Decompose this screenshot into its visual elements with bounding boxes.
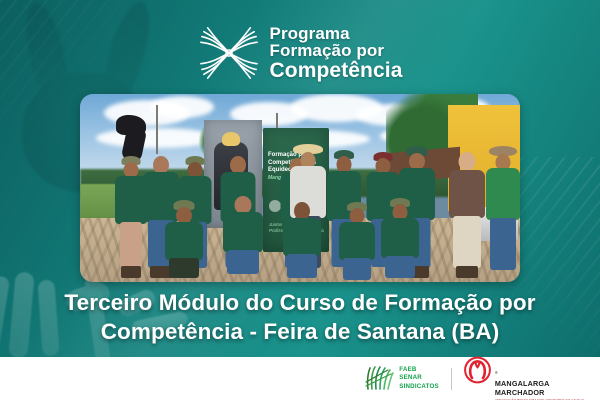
mangalarga-marchador-logo: ® MANGALARGA MARCHADOR ASSOCIAÇÃO BRASIL…: [464, 356, 584, 400]
faeb-wordmark: FAEB SENAR SINDICATOS: [399, 366, 439, 392]
mangalarga-marchador-horseshoe-icon: [464, 356, 491, 384]
faeb-line2: SENAR: [399, 374, 439, 383]
photo-utility-pole: [156, 105, 158, 154]
event-photo: Formação por Competência em Equideocultu…: [80, 94, 520, 282]
mangalarga-wordmark: ® MANGALARGA MARCHADOR ASSOCIAÇÃO BRASIL…: [495, 356, 584, 400]
footer-bar: FAEB SENAR SINDICATOS ® MANGALARGA MARCH…: [0, 357, 600, 400]
photo-person: [164, 200, 204, 282]
photo-scene: Formação por Competência em Equideocultu…: [80, 94, 520, 282]
program-logo: Programa Formação por Competência: [0, 22, 600, 84]
photo-person: [484, 146, 520, 282]
faeb-senar-leaf-icon: [364, 366, 394, 390]
photo-person: [448, 150, 486, 282]
registered-mark: ®: [495, 370, 498, 375]
formacao-por-competencia-starburst-icon: [198, 22, 260, 84]
faeb-senar-sindicatos-logo: FAEB SENAR SINDICATOS: [364, 366, 439, 392]
photo-person: [338, 202, 376, 282]
poster-canvas: Programa Formação por Competência: [0, 0, 600, 400]
photo-person: [222, 194, 264, 282]
faeb-line1: FAEB: [399, 366, 439, 375]
mangalarga-line1: MANGALARGA: [495, 379, 584, 388]
program-logo-wordmark: Programa Formação por Competência: [270, 25, 403, 81]
footer-divider: [451, 368, 452, 390]
photo-person: [380, 198, 420, 282]
mangalarga-line2: MARCHADOR: [495, 388, 584, 397]
faeb-line3: SINDICATOS: [399, 383, 439, 392]
photo-person: [282, 200, 322, 282]
program-logo-line3: Competência: [270, 60, 403, 81]
program-logo-line2: Formação por: [270, 42, 403, 59]
page-title: Terceiro Módulo do Curso de Formação por…: [30, 289, 570, 347]
program-logo-line1: Programa: [270, 25, 403, 42]
